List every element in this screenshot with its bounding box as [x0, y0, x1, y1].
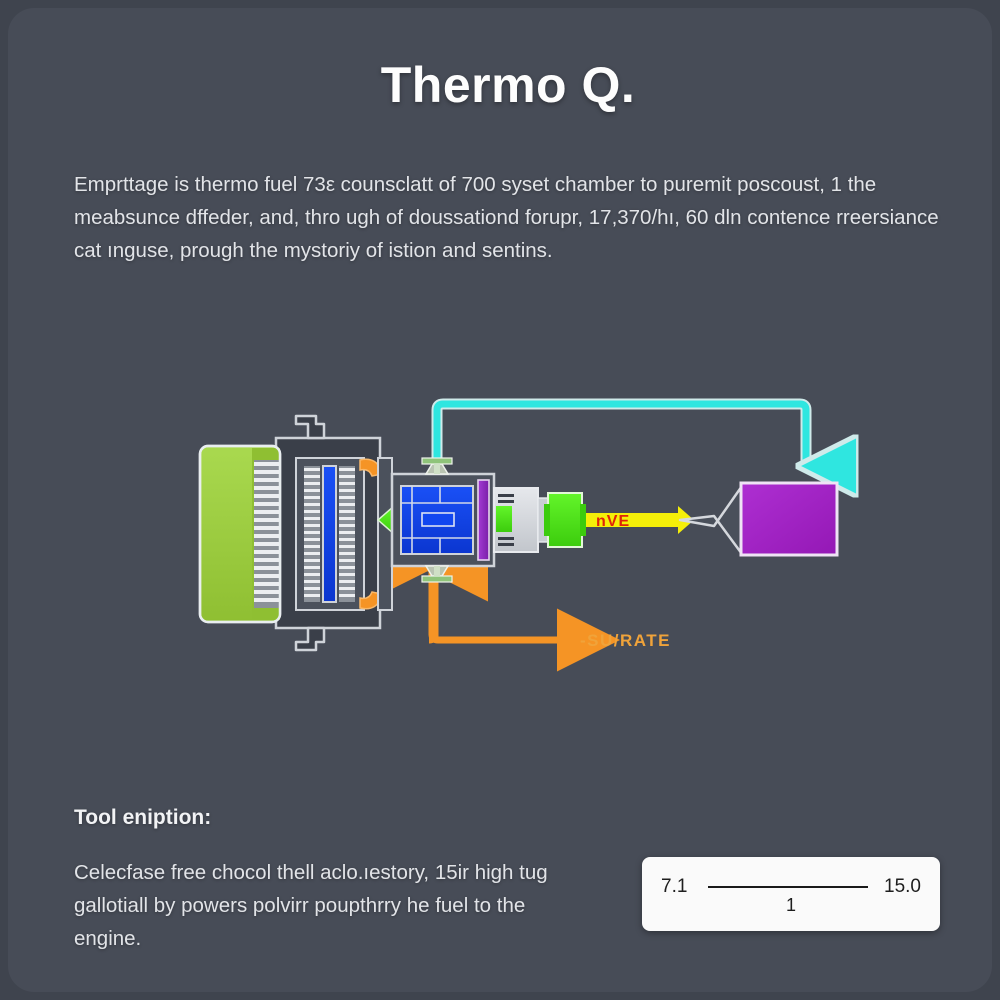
slider-track[interactable] [708, 886, 868, 888]
app-root: Thermo Q. Emprttage is thermo fuel 73ε c… [0, 0, 1000, 1000]
inner-fin-stack-left [304, 466, 320, 602]
tool-heading: Tool eniption: [74, 806, 211, 830]
transition-box [494, 488, 538, 552]
green-gear-valve [538, 493, 586, 547]
cyan-pipe [437, 404, 806, 478]
yellow-pipe-label: nVE [596, 513, 630, 530]
range-slider-widget[interactable]: 7.1 15.0 1 [642, 857, 940, 931]
purple-tank [741, 483, 837, 555]
page-title: Thermo Q. [8, 56, 992, 114]
inner-fin-stack-right [339, 466, 355, 602]
machine-diagram: -SU/RATE nVE [8, 338, 992, 738]
outer-fin-stack [254, 460, 280, 608]
tank-duct [680, 486, 742, 554]
valve-top [422, 458, 452, 474]
machine-left-assembly [200, 416, 394, 650]
blue-core [401, 486, 473, 554]
purple-plate [478, 480, 489, 560]
center-chamber [392, 458, 494, 582]
intro-paragraph: Emprttage is thermo fuel 73ε counsclatt … [74, 168, 954, 267]
valve-bottom [422, 566, 452, 582]
slider-value-label: 1 [642, 895, 940, 916]
tool-description: Celecfase free chocol thell aclo.ıestory… [74, 856, 594, 955]
content-card: Thermo Q. Emprttage is thermo fuel 73ε c… [8, 8, 992, 992]
orange-branch-label: -SU/RATE [580, 631, 671, 650]
